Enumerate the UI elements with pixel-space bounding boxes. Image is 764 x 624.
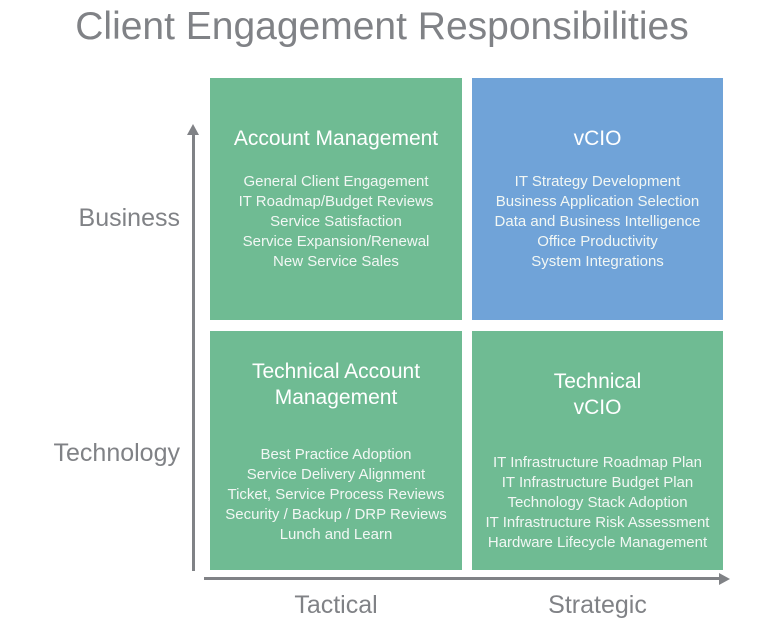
x-axis-label-strategic: Strategic [472, 590, 723, 620]
quadrant-heading: Account Management [210, 126, 462, 152]
quadrant-item: Lunch and Learn [210, 525, 462, 545]
quadrant-heading: Technical Account Management [210, 359, 462, 411]
quadrant-account-management[interactable]: Account Management General Client Engage… [210, 78, 462, 320]
quadrant-item: Security / Backup / DRP Reviews [210, 505, 462, 525]
quadrant-heading: vCIO [472, 126, 723, 152]
x-axis-right-arrow-icon [719, 573, 730, 585]
quadrant-item: IT Infrastructure Risk Assessment [472, 513, 723, 533]
quadrant-item: New Service Sales [210, 252, 462, 272]
quadrant-item: Service Expansion/Renewal [210, 232, 462, 252]
quadrant-item: IT Strategy Development [472, 172, 723, 192]
quadrant-item: Service Satisfaction [210, 212, 462, 232]
quadrant-item: Hardware Lifecycle Management [472, 533, 723, 553]
quadrant-item: IT Infrastructure Budget Plan [472, 473, 723, 493]
quadrant-item-list: General Client EngagementIT Roadmap/Budg… [210, 172, 462, 272]
quadrant-item: Service Delivery Alignment [210, 465, 462, 485]
y-axis-label-technology: Technology [0, 438, 180, 468]
quadrant-item: Technology Stack Adoption [472, 493, 723, 513]
quadrant-item-list: IT Strategy DevelopmentBusiness Applicat… [472, 172, 723, 272]
quadrant-vcio[interactable]: vCIO IT Strategy DevelopmentBusiness App… [472, 78, 723, 320]
x-axis-label-tactical: Tactical [210, 590, 462, 620]
quadrant-item: General Client Engagement [210, 172, 462, 192]
quadrant-item: Office Productivity [472, 232, 723, 252]
quadrant-item: Best Practice Adoption [210, 445, 462, 465]
x-axis-line [204, 577, 721, 580]
quadrant-technical-account-management[interactable]: Technical Account Management Best Practi… [210, 331, 462, 570]
quadrant-item: System Integrations [472, 252, 723, 272]
quadrant-heading: Technical vCIO [472, 369, 723, 421]
y-axis-label-business: Business [0, 203, 180, 233]
quadrant-item-list: IT Infrastructure Roadmap PlanIT Infrast… [472, 453, 723, 553]
quadrant-diagram-canvas: Client Engagement Responsibilities Busin… [0, 0, 764, 624]
quadrant-item: Data and Business Intelligence [472, 212, 723, 232]
quadrant-item: IT Infrastructure Roadmap Plan [472, 453, 723, 473]
quadrant-item: Business Application Selection [472, 192, 723, 212]
quadrant-item: Ticket, Service Process Reviews [210, 485, 462, 505]
y-axis-line [192, 134, 195, 571]
quadrant-item: IT Roadmap/Budget Reviews [210, 192, 462, 212]
quadrant-technical-vcio[interactable]: Technical vCIO IT Infrastructure Roadmap… [472, 331, 723, 570]
quadrant-item-list: Best Practice AdoptionService Delivery A… [210, 445, 462, 545]
page-title: Client Engagement Responsibilities [0, 2, 764, 52]
